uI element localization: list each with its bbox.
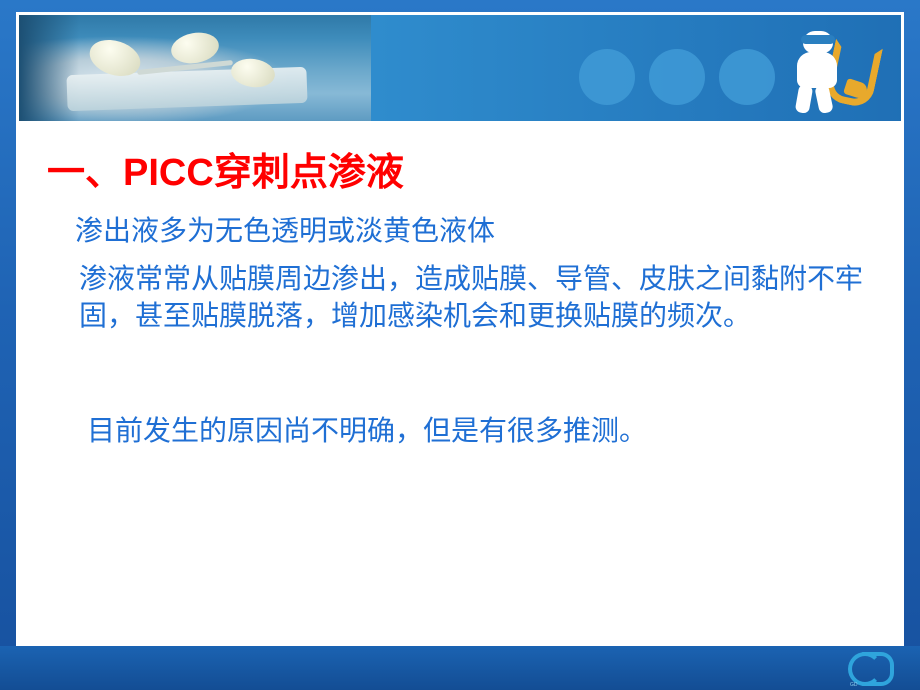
header-circle-icon bbox=[649, 49, 705, 105]
logo-ring-right bbox=[862, 652, 894, 686]
figure-leg bbox=[795, 84, 814, 114]
slide-title: 一、PICC穿刺点渗液 bbox=[47, 141, 404, 196]
presentation-slide: 一、PICC穿刺点渗液 渗出液多为无色透明或淡黄色液体 渗液常常从贴膜周边渗出，… bbox=[0, 0, 920, 690]
slide-frame: 一、PICC穿刺点渗液 渗出液多为无色透明或淡黄色液体 渗液常常从贴膜周边渗出，… bbox=[16, 12, 904, 646]
body-paragraph-1: 渗出液多为无色透明或淡黄色液体 bbox=[75, 213, 875, 250]
slide-content: 一、PICC穿刺点渗液 渗出液多为无色透明或淡黄色液体 渗液常常从贴膜周边渗出，… bbox=[19, 121, 904, 643]
figure-body bbox=[797, 52, 837, 88]
surgery-photo bbox=[19, 15, 371, 121]
figure-visor bbox=[801, 35, 835, 44]
logo-label: GD bbox=[850, 682, 858, 688]
body-paragraph-2: 渗液常常从贴膜周边渗出，造成贴膜、导管、皮肤之间黏附不牢固，甚至贴膜脱落，增加感… bbox=[79, 261, 879, 335]
slide-title-latin: PICC bbox=[123, 152, 214, 194]
slide-header-band bbox=[19, 15, 904, 121]
organization-logo-icon: GD bbox=[848, 648, 888, 686]
saxophone-player-icon bbox=[743, 15, 904, 121]
body-paragraph-3: 目前发生的原因尚不明确，但是有很多推测。 bbox=[87, 413, 887, 450]
slide-title-prefix: 一、 bbox=[47, 152, 123, 194]
sax-figure bbox=[777, 29, 873, 115]
header-circle-icon bbox=[579, 49, 635, 105]
slide-footer-bar: GD bbox=[0, 646, 920, 690]
slide-title-suffix: 穿刺点渗液 bbox=[214, 152, 404, 194]
